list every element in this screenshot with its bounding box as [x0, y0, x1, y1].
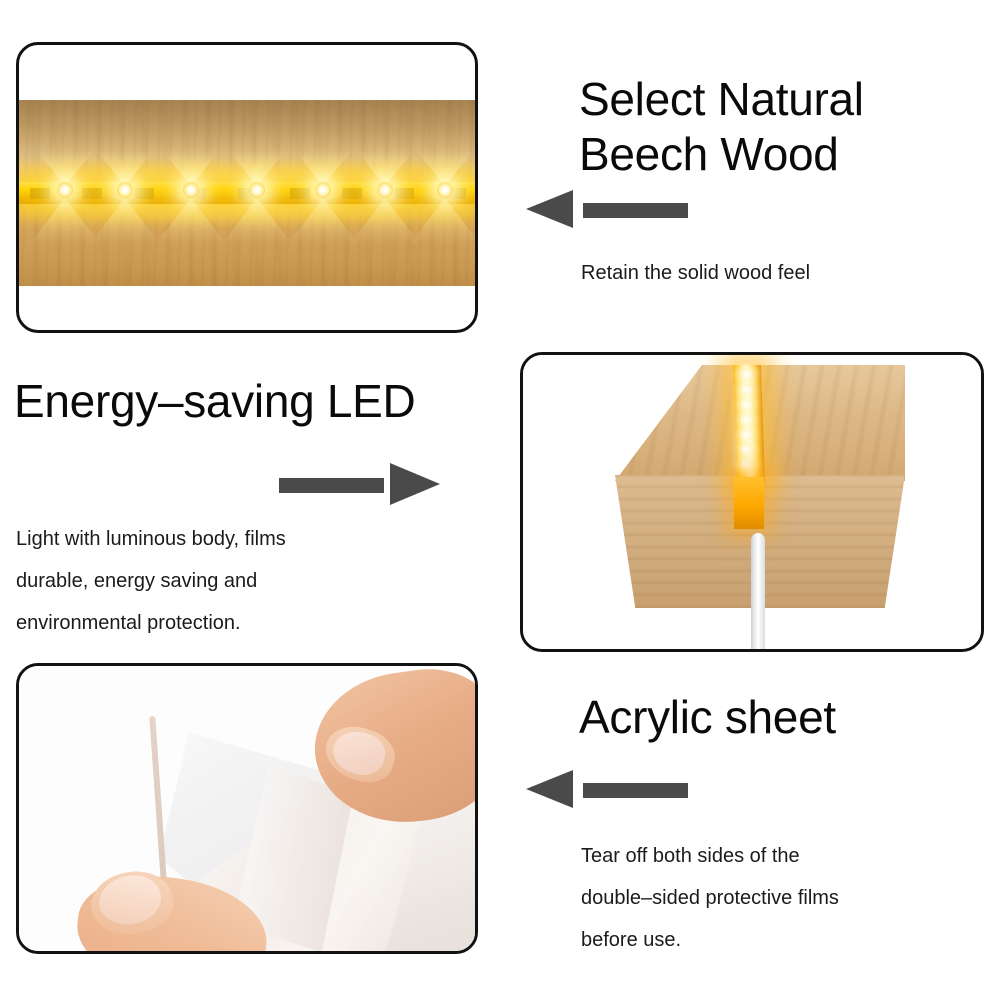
arrow-head	[526, 770, 573, 808]
led-point-light	[739, 414, 754, 425]
led-groove-points	[739, 367, 755, 479]
wood-block-photo	[523, 355, 981, 649]
led-strip-photo	[16, 100, 478, 286]
led-point-light	[183, 182, 199, 198]
led-point-light	[437, 182, 453, 198]
arrow-left-icon	[526, 770, 696, 810]
led-strip-pcb-pads	[16, 188, 478, 199]
photo-card-acrylic-sheet	[16, 663, 478, 954]
led-groove-end-opening	[734, 477, 764, 529]
wood-top-shadow	[16, 100, 478, 158]
body-text-energy-saving-led: Light with luminous body, films durable,…	[16, 518, 436, 644]
led-point-light	[117, 182, 133, 198]
heading-beech-wood: Select Natural Beech Wood	[579, 72, 979, 182]
led-point-light	[739, 459, 754, 470]
led-point-light	[739, 369, 754, 380]
led-point-light	[57, 182, 73, 198]
arrow-head	[526, 190, 573, 228]
led-point-light	[739, 399, 754, 410]
arrow-left-icon	[526, 190, 696, 230]
body-text-acrylic-sheet: Tear off both sides of the double–sided …	[581, 835, 981, 961]
photo-card-beech-wood	[16, 42, 478, 333]
heading-acrylic-sheet: Acrylic sheet	[579, 690, 979, 745]
arrow-right-icon	[279, 465, 449, 507]
led-point-light	[377, 182, 393, 198]
power-cable	[751, 533, 765, 652]
led-point-light	[315, 182, 331, 198]
arrow-head	[390, 463, 440, 505]
body-text-beech-wood: Retain the solid wood feel	[581, 252, 981, 294]
led-point-light	[739, 384, 754, 395]
led-point-light	[739, 444, 754, 455]
heading-energy-saving-led: Energy–saving LED	[14, 374, 514, 429]
infographic-canvas: Select Natural Beech Wood Retain the sol…	[0, 0, 1000, 1000]
acrylic-photo	[19, 666, 475, 951]
led-point-light	[739, 429, 754, 440]
led-point-light	[249, 182, 265, 198]
arrow-shaft	[583, 783, 688, 798]
photo-card-wood-block	[520, 352, 984, 652]
arrow-shaft	[583, 203, 688, 218]
arrow-shaft	[279, 478, 384, 493]
